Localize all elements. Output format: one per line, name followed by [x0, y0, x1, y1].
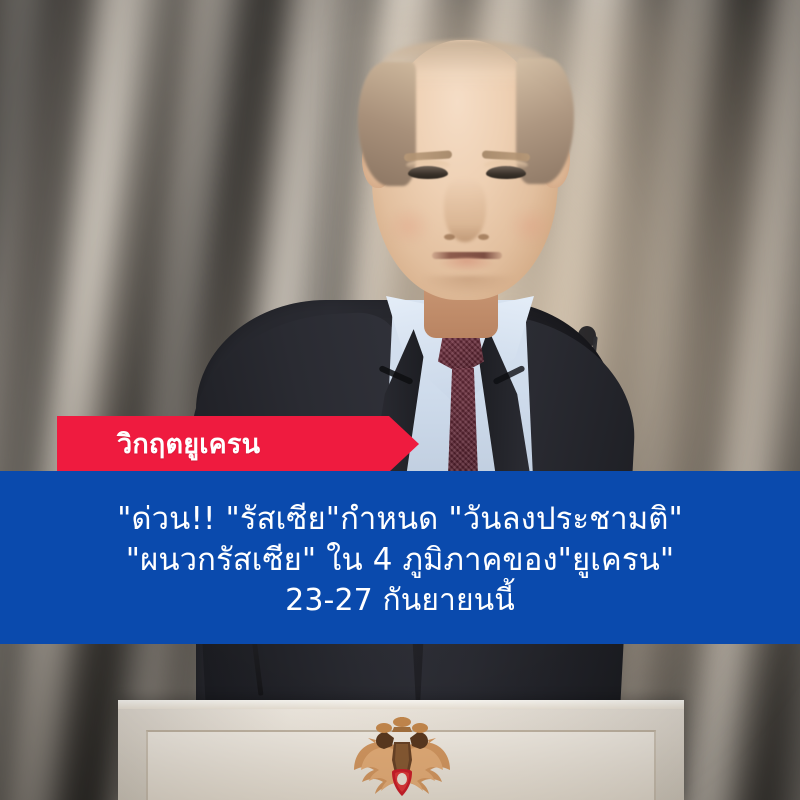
headline-line-3: 23-27 กันยายนนี้ — [285, 581, 515, 621]
category-tag: วิกฤตยูเครน — [57, 416, 419, 472]
headline-bar: "ด่วน!! "รัสเซีย"กำหนด "วันลงประชามติ" "… — [0, 471, 800, 644]
news-graphic-card: วิกฤตยูเครน "ด่วน!! "รัสเซีย"กำหนด "วันล… — [0, 0, 800, 800]
headline-line-1: "ด่วน!! "รัสเซีย"กำหนด "วันลงประชามติ" — [117, 499, 683, 540]
headline-line-2: "ผนวกรัสเซีย" ใน 4 ภูมิภาคของ"ยูเครน" — [126, 540, 675, 581]
photo-vignette — [0, 0, 800, 800]
category-tag-label: วิกฤตยูเครน — [57, 431, 260, 458]
